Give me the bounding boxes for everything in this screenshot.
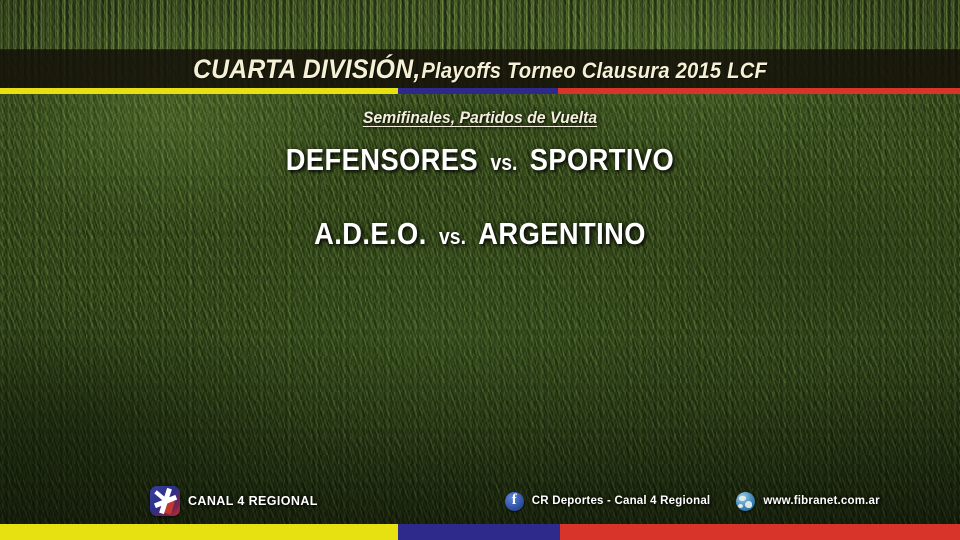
match-row: DEFENSORESvs.SPORTIVO xyxy=(58,142,903,178)
facebook-icon xyxy=(505,492,524,511)
stripe-segment-blue xyxy=(398,88,558,94)
canal4-logo-icon xyxy=(150,486,180,516)
versus-label: vs. xyxy=(490,150,517,175)
stripe-segment-yellow xyxy=(0,88,398,94)
facebook-handle: CR Deportes - Canal 4 Regional xyxy=(532,495,711,507)
home-team: A.D.E.O. xyxy=(314,216,427,251)
stripe-segment-red xyxy=(560,524,960,540)
website-url: www.fibranet.com.ar xyxy=(763,495,879,507)
accent-stripe-top xyxy=(0,88,960,94)
facebook-branding: CR Deportes - Canal 4 Regional xyxy=(505,492,711,511)
away-team: SPORTIVO xyxy=(530,142,674,177)
away-team: ARGENTINO xyxy=(478,216,646,251)
stripe-segment-blue xyxy=(398,524,560,540)
globe-icon xyxy=(736,492,755,511)
channel-name: CANAL 4 REGIONAL xyxy=(188,494,318,508)
title-group: CUARTA DIVISIÓN,Playoffs Torneo Clausura… xyxy=(193,54,767,85)
match-row: A.D.E.O.vs.ARGENTINO xyxy=(58,216,903,252)
home-team: DEFENSORES xyxy=(286,142,478,177)
broadcast-graphic: CUARTA DIVISIÓN,Playoffs Torneo Clausura… xyxy=(0,0,960,540)
accent-stripe-bottom xyxy=(0,524,960,540)
stripe-segment-red xyxy=(558,88,960,94)
title-bar: CUARTA DIVISIÓN,Playoffs Torneo Clausura… xyxy=(0,50,960,88)
channel-branding: CANAL 4 REGIONAL xyxy=(150,486,318,516)
title-tournament: Playoffs Torneo Clausura 2015 LCF xyxy=(421,58,767,83)
stripe-segment-yellow xyxy=(0,524,398,540)
website-branding: www.fibranet.com.ar xyxy=(736,492,879,511)
title-division: CUARTA DIVISIÓN, xyxy=(193,54,420,84)
versus-label: vs. xyxy=(439,224,466,249)
match-listing: Semifinales, Partidos de Vuelta DEFENSOR… xyxy=(0,108,960,252)
branding-bar: CANAL 4 REGIONAL CR Deportes - Canal 4 R… xyxy=(0,478,960,524)
stage-label: Semifinales, Partidos de Vuelta xyxy=(363,108,597,128)
